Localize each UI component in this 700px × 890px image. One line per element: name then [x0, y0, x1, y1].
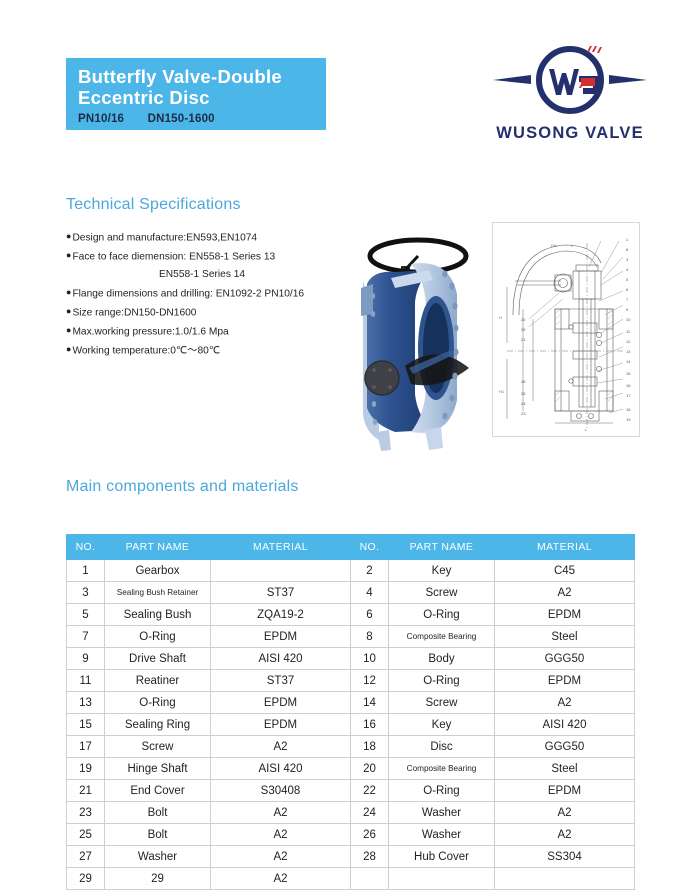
table-row: 9Drive ShaftAISI 42010BodyGGG50 — [67, 648, 635, 670]
cell-part-name: Washer — [389, 802, 495, 824]
cell-number: 23 — [67, 802, 105, 824]
cell-material — [495, 868, 635, 890]
cell-material: GGG50 — [495, 736, 635, 758]
cell-material: A2 — [211, 868, 351, 890]
product-title: Butterfly Valve-Double Eccentric Disc — [78, 66, 326, 108]
spec-item-text: Design and manufacture:EN593,EN1074 — [72, 233, 257, 244]
cell-material: S30408 — [211, 780, 351, 802]
cell-part-name: O-Ring — [389, 604, 495, 626]
cell-part-name: Bolt — [105, 802, 211, 824]
svg-text:10: 10 — [626, 317, 631, 322]
spec-item: ●Working temperature:0℃～80℃ — [66, 341, 356, 360]
spec-item: ●Face to face diemension: EN558-1 Series… — [66, 247, 356, 266]
bullet-icon: ● — [66, 325, 71, 335]
svg-text:21: 21 — [521, 337, 526, 342]
svg-text:8: 8 — [626, 247, 629, 252]
cell-material: GGG50 — [495, 648, 635, 670]
cell-number: 22 — [351, 780, 389, 802]
bullet-icon: ● — [66, 231, 71, 241]
cell-material: C45 — [495, 560, 635, 582]
cell-number: 7 — [67, 626, 105, 648]
cell-part-name: Screw — [389, 582, 495, 604]
svg-text:3: 3 — [626, 257, 629, 262]
table-row: 19Hinge ShaftAISI 42020Composite Bearing… — [67, 758, 635, 780]
svg-text:DN: DN — [551, 243, 557, 248]
cell-part-name: O-Ring — [105, 692, 211, 714]
column-header-part-left: PART NAME — [105, 535, 211, 560]
cell-number: 27 — [67, 846, 105, 868]
svg-text:11: 11 — [626, 329, 631, 334]
cell-number: 24 — [351, 802, 389, 824]
cell-number: 13 — [67, 692, 105, 714]
column-header-material-right: MATERIAL — [495, 535, 635, 560]
cell-number: 19 — [67, 758, 105, 780]
product-title-banner: Butterfly Valve-Double Eccentric Disc PN… — [66, 58, 326, 130]
logo-mark-icon — [487, 42, 653, 122]
cell-part-name: Gearbox — [105, 560, 211, 582]
spec-item: ●Size range:DN150-DN1600 — [66, 303, 356, 322]
svg-text:6: 6 — [626, 287, 629, 292]
cell-number: 5 — [67, 604, 105, 626]
cell-part-name: Composite Bearing — [389, 626, 495, 648]
cell-material: EPDM — [495, 604, 635, 626]
column-header-part-right: PART NAME — [389, 535, 495, 560]
cell-material: EPDM — [211, 626, 351, 648]
svg-text:29: 29 — [521, 327, 526, 332]
cell-material: A2 — [211, 824, 351, 846]
cell-material: A2 — [495, 824, 635, 846]
table-row: 5Sealing BushZQA19-26O-RingEPDM — [67, 604, 635, 626]
cell-number: 8 — [351, 626, 389, 648]
product-title-line1: Butterfly Valve-Double — [78, 66, 326, 87]
cell-number: 1 — [67, 560, 105, 582]
svg-text:15: 15 — [626, 371, 631, 376]
size-range: DN150-1600 — [148, 113, 215, 125]
product-title-line2: Eccentric Disc — [78, 87, 326, 108]
cell-part-name: Hub Cover — [389, 846, 495, 868]
cell-part-name: Sealing Bush Retainer — [105, 582, 211, 604]
spec-item-text: Max.working pressure:1.0/1.6 Mpa — [72, 326, 228, 337]
bullet-icon: ● — [66, 344, 71, 354]
cell-material: Steel — [495, 626, 635, 648]
cell-number: 11 — [67, 670, 105, 692]
cell-part-name: Body — [389, 648, 495, 670]
cell-material: A2 — [495, 802, 635, 824]
cell-number: 12 — [351, 670, 389, 692]
table-row: 7O-RingEPDM8Composite BearingSteel — [67, 626, 635, 648]
cell-part-name: Key — [389, 560, 495, 582]
cell-number: 9 — [67, 648, 105, 670]
spec-item: ●Design and manufacture:EN593,EN1074 — [66, 228, 356, 247]
cell-number: 14 — [351, 692, 389, 714]
brand-logo: WUSONG VALVE — [487, 42, 653, 152]
cell-number: 16 — [351, 714, 389, 736]
cell-number — [351, 868, 389, 890]
svg-text:9: 9 — [626, 307, 629, 312]
cell-material: ST37 — [211, 582, 351, 604]
svg-text:19: 19 — [626, 417, 631, 422]
product-photo — [333, 218, 483, 453]
spec-item: ●Flange dimensions and drilling: EN1092-… — [66, 284, 356, 303]
cell-part-name: Hinge Shaft — [105, 758, 211, 780]
technical-specifications-list: ●Design and manufacture:EN593,EN1074 ●Fa… — [66, 228, 356, 360]
spec-item-continuation: EN558-1 Series 14 — [66, 266, 356, 284]
cell-number: 28 — [351, 846, 389, 868]
cell-material: EPDM — [495, 670, 635, 692]
cell-material: EPDM — [495, 780, 635, 802]
components-materials-table: NO. PART NAME MATERIAL NO. PART NAME MAT… — [66, 534, 635, 890]
company-name: WUSONG VALVE — [487, 124, 653, 143]
cell-number: 25 — [67, 824, 105, 846]
cell-part-name: Screw — [105, 736, 211, 758]
cell-number: 26 — [351, 824, 389, 846]
cell-number: 17 — [67, 736, 105, 758]
cell-material: ST37 — [211, 670, 351, 692]
column-header-material-left: MATERIAL — [211, 535, 351, 560]
cell-part-name: O-Ring — [389, 780, 495, 802]
cell-number: 21 — [67, 780, 105, 802]
table-header-row: NO. PART NAME MATERIAL NO. PART NAME MAT… — [67, 535, 635, 560]
cell-part-name: 29 — [105, 868, 211, 890]
cell-number: 10 — [351, 648, 389, 670]
table-row: 25BoltA226WasherA2 — [67, 824, 635, 846]
spec-item-text: Size range:DN150-DN1600 — [72, 307, 196, 318]
bullet-icon: ● — [66, 287, 71, 297]
cell-part-name: O-Ring — [389, 670, 495, 692]
cell-part-name: O-Ring — [105, 626, 211, 648]
svg-text:5: 5 — [626, 277, 629, 282]
cell-part-name: Screw — [389, 692, 495, 714]
table-row: 27WasherA228Hub CoverSS304 — [67, 846, 635, 868]
svg-text:L: L — [585, 427, 588, 432]
spec-item: ●Max.working pressure:1.0/1.6 Mpa — [66, 322, 356, 341]
cell-part-name: Drive Shaft — [105, 648, 211, 670]
cell-part-name: Key — [389, 714, 495, 736]
cell-material: A2 — [495, 692, 635, 714]
table-row: 1Gearbox2KeyC45 — [67, 560, 635, 582]
cell-part-name: Composite Bearing — [389, 758, 495, 780]
spec-item-text: Working temperature:0℃～80℃ — [72, 345, 220, 356]
bullet-icon: ● — [66, 250, 71, 260]
cell-material — [211, 560, 351, 582]
cell-material: A2 — [211, 846, 351, 868]
table-row: 2929A2 — [67, 868, 635, 890]
svg-text:14: 14 — [626, 359, 631, 364]
cell-part-name: Washer — [389, 824, 495, 846]
table-row: 11ReatinerST3712O-RingEPDM — [67, 670, 635, 692]
cell-part-name — [389, 868, 495, 890]
cell-part-name: Washer — [105, 846, 211, 868]
table-row: 15Sealing RingEPDM16KeyAISI 420 — [67, 714, 635, 736]
cell-part-name: Reatiner — [105, 670, 211, 692]
cell-part-name: Sealing Bush — [105, 604, 211, 626]
svg-text:4: 4 — [626, 267, 629, 272]
column-header-no-right: NO. — [351, 535, 389, 560]
cell-part-name: Bolt — [105, 824, 211, 846]
cell-material: Steel — [495, 758, 635, 780]
main-components-heading: Main components and materials — [66, 478, 299, 496]
svg-text:H1: H1 — [499, 389, 505, 394]
cell-material: AISI 420 — [495, 714, 635, 736]
cell-number: 20 — [351, 758, 389, 780]
bullet-icon: ● — [66, 306, 71, 316]
cell-material: ZQA19-2 — [211, 604, 351, 626]
svg-text:13: 13 — [626, 349, 631, 354]
cell-number: 2 — [351, 560, 389, 582]
cell-material: EPDM — [211, 714, 351, 736]
pressure-rating: PN10/16 — [78, 113, 124, 125]
svg-text:H: H — [499, 315, 502, 320]
cell-part-name: Disc — [389, 736, 495, 758]
cell-number: 29 — [67, 868, 105, 890]
technical-specifications-heading: Technical Specifications — [66, 196, 241, 214]
svg-text:26: 26 — [521, 379, 526, 384]
svg-text:24: 24 — [521, 401, 526, 406]
spec-item-text: Flange dimensions and drilling: EN1092-2… — [72, 288, 304, 299]
cell-part-name: End Cover — [105, 780, 211, 802]
svg-text:16: 16 — [626, 383, 631, 388]
table-row: 17ScrewA218DiscGGG50 — [67, 736, 635, 758]
product-subtitle: PN10/16 DN150-1600 — [78, 113, 326, 125]
table-row: 13O-RingEPDM14ScrewA2 — [67, 692, 635, 714]
svg-text:12: 12 — [626, 339, 631, 344]
cell-material: AISI 420 — [211, 648, 351, 670]
svg-text:18: 18 — [626, 407, 631, 412]
svg-text:7: 7 — [626, 297, 629, 302]
column-header-no-left: NO. — [67, 535, 105, 560]
cell-material: AISI 420 — [211, 758, 351, 780]
svg-text:17: 17 — [626, 393, 631, 398]
spec-item-text: Face to face diemension: EN558-1 Series … — [72, 252, 275, 263]
cell-part-name: Sealing Ring — [105, 714, 211, 736]
cell-material: A2 — [495, 582, 635, 604]
table-row: 23BoltA224WasherA2 — [67, 802, 635, 824]
cell-material: SS304 — [495, 846, 635, 868]
cell-material: A2 — [211, 736, 351, 758]
cell-number: 18 — [351, 736, 389, 758]
svg-text:25: 25 — [521, 391, 526, 396]
cell-number: 15 — [67, 714, 105, 736]
cell-number: 6 — [351, 604, 389, 626]
table-row: 3Sealing Bush RetainerST374ScrewA2 — [67, 582, 635, 604]
svg-text:23: 23 — [521, 411, 526, 416]
table-row: 21End CoverS3040822O-RingEPDM — [67, 780, 635, 802]
cell-number: 3 — [67, 582, 105, 604]
technical-drawing: 18 34 56 79 1011 1213 1415 1617 1819 202… — [492, 222, 640, 437]
svg-text:1: 1 — [626, 237, 629, 242]
svg-text:20: 20 — [521, 317, 526, 322]
cell-number: 4 — [351, 582, 389, 604]
cell-material: A2 — [211, 802, 351, 824]
cell-material: EPDM — [211, 692, 351, 714]
